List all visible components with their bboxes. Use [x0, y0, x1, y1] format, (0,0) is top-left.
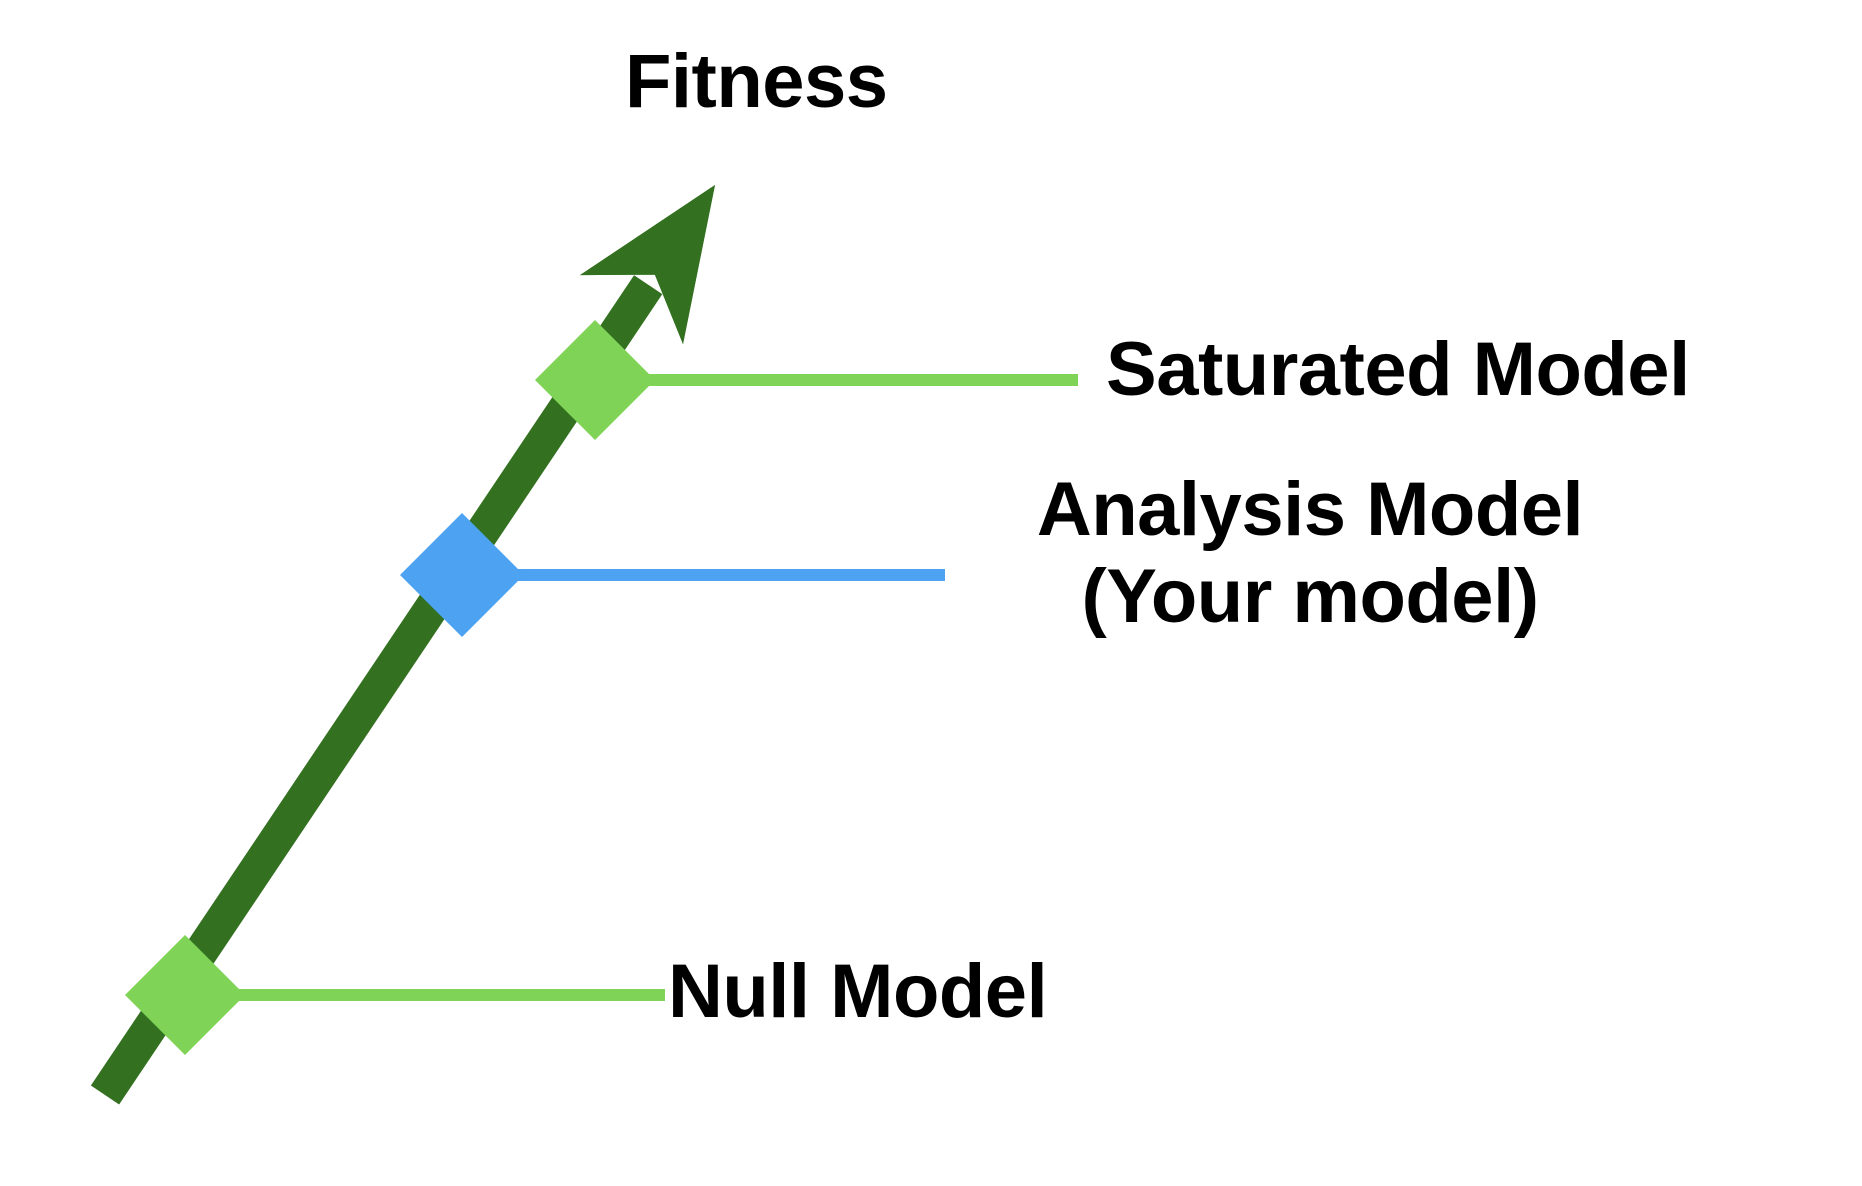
analysis-model-label-line2: (Your model) — [1000, 557, 1620, 638]
axis-title: Fitness — [0, 42, 1862, 123]
analysis-model-label: Analysis Model (Your model) — [1000, 470, 1620, 637]
arrow-head-solid — [580, 185, 715, 344]
analysis-model-label-line1: Analysis Model — [1000, 470, 1620, 551]
null-model-label: Null Model — [668, 952, 1047, 1033]
diagram-canvas: Fitness Saturated Model Analysis Model (… — [0, 0, 1862, 1186]
saturated-model-label: Saturated Model — [1106, 330, 1690, 411]
